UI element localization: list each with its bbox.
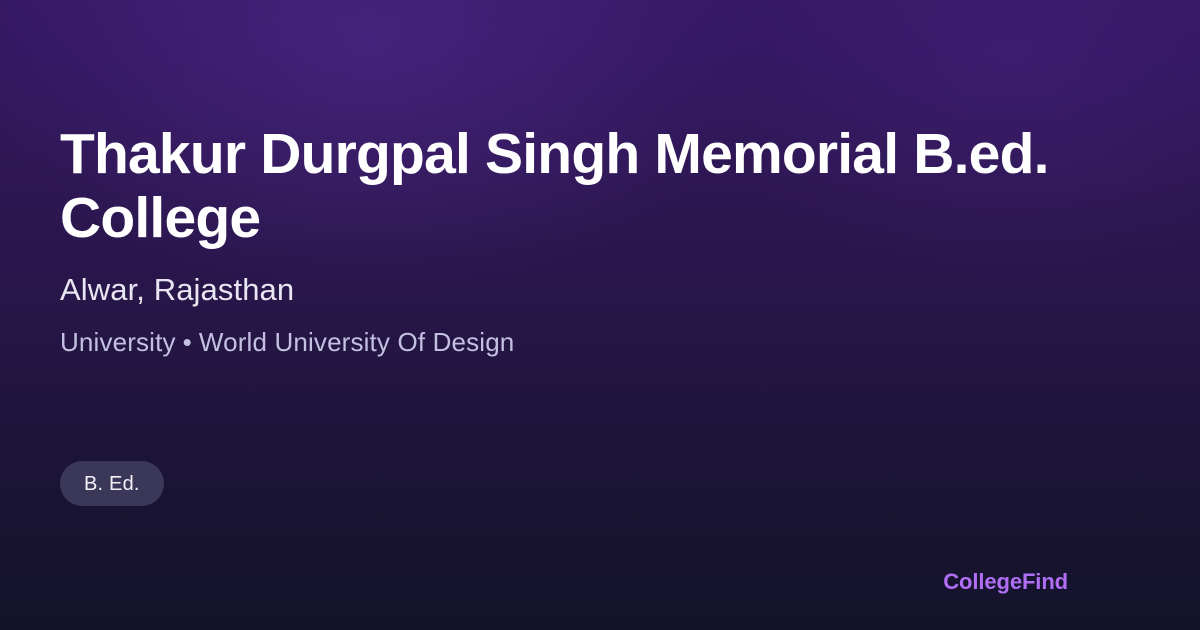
og-preview-card: Thakur Durgpal Singh Memorial B.ed. Coll… [0,0,1200,630]
brand-logo-text: CollegeFind [943,569,1068,595]
bullet-separator-icon: • [183,325,192,359]
college-name-title: Thakur Durgpal Singh Memorial B.ed. Coll… [60,122,1060,250]
college-type: University [60,327,176,357]
college-meta-line: University•World University Of Design [60,325,514,359]
card-content: Thakur Durgpal Singh Memorial B.ed. Coll… [60,0,1070,630]
college-location: Alwar, Rajasthan [60,271,294,309]
tag-badge-bed: B. Ed. [60,461,164,506]
college-affiliation: World University Of Design [199,327,515,357]
tag-list: B. Ed. [60,461,164,506]
